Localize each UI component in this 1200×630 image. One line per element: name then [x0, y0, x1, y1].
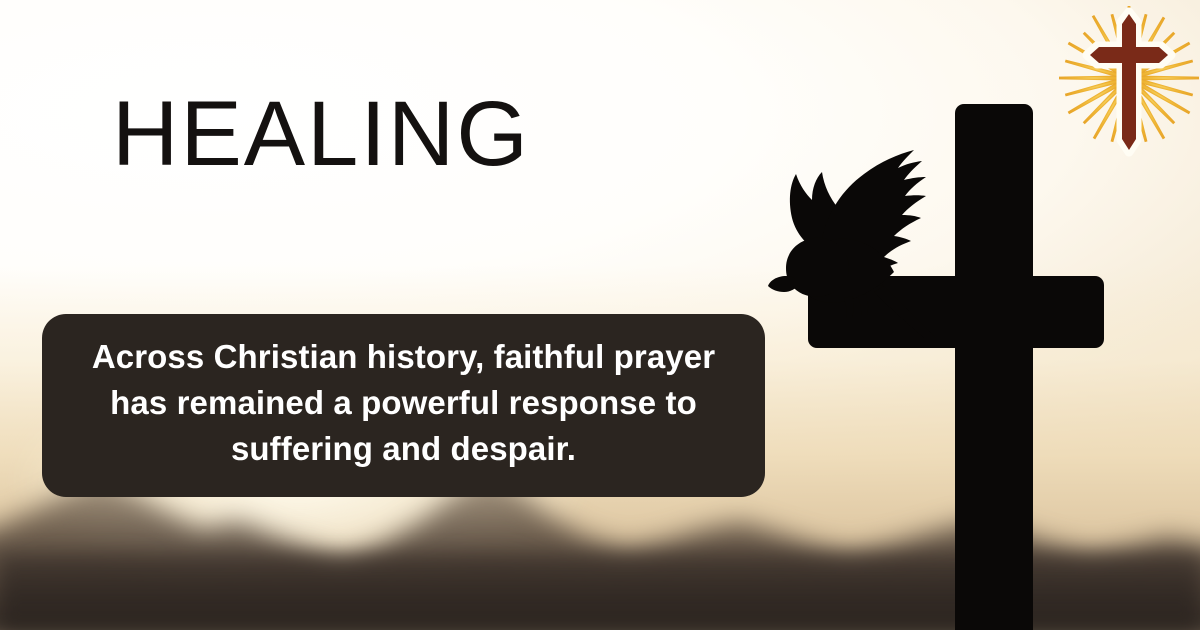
page-title: HEALING [112, 88, 530, 180]
cross-vertical-beam [955, 104, 1033, 630]
parrot-silhouette [756, 126, 960, 338]
caption-text: Across Christian history, faithful praye… [68, 334, 739, 472]
brown-cross-glyph [1090, 14, 1168, 150]
caption-card: Across Christian history, faithful praye… [42, 314, 765, 497]
sunburst-cross-logo[interactable] [1058, 0, 1200, 162]
poster-canvas: HEALING Across Christian history, faithf… [0, 0, 1200, 630]
